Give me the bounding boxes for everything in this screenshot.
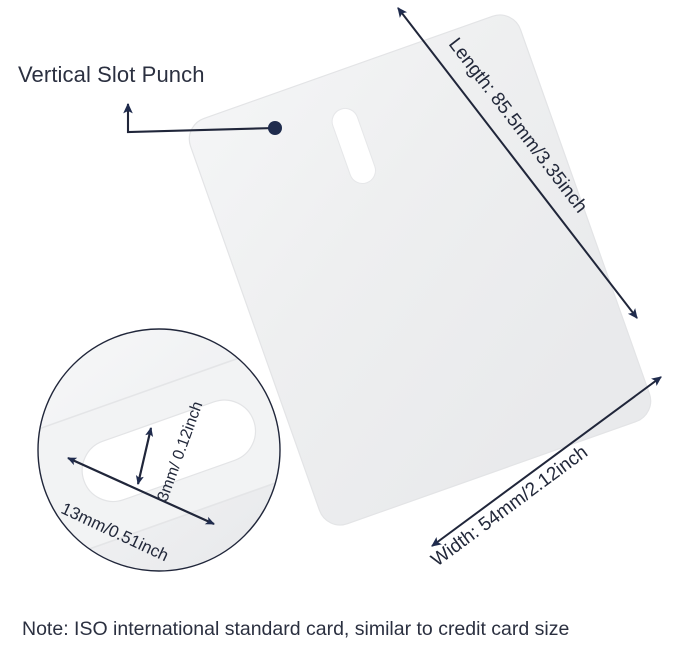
note-text: Note: ISO international standard card, s… <box>22 618 569 641</box>
length-dimension-arrow <box>398 8 637 318</box>
annotation-layer <box>0 0 679 656</box>
dot-marker-icon <box>268 121 282 135</box>
slot-punch-leader <box>128 104 282 135</box>
slot-width-arrow <box>138 428 151 484</box>
width-dimension-arrow <box>432 377 661 546</box>
product-dimension-diagram: Vertical Slot Punch Length: 85.5mm/3.35i… <box>0 0 679 656</box>
slot-punch-callout-label: Vertical Slot Punch <box>18 62 205 88</box>
leader-line <box>128 104 275 132</box>
